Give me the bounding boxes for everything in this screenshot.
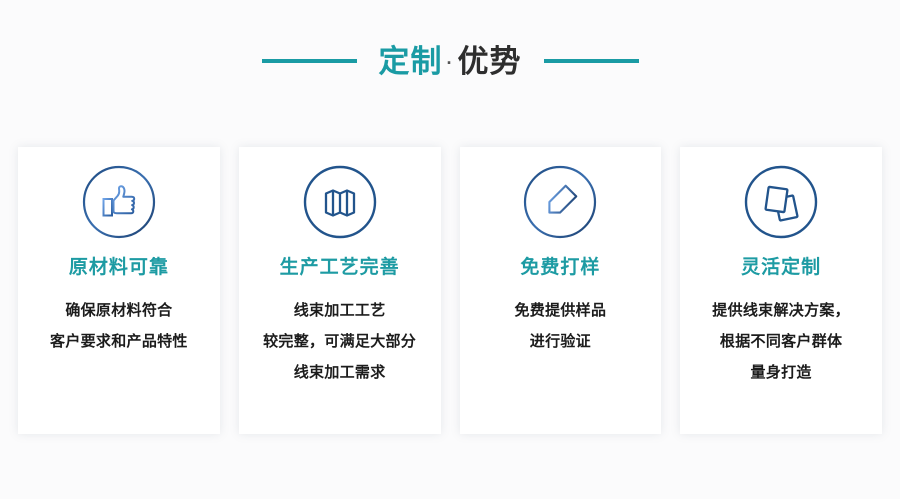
- advantage-card-title: 免费打样: [520, 258, 600, 277]
- folded-map-icon: [302, 164, 378, 240]
- advantage-card: 灵活定制 提供线束解决方案， 根据不同客户群体 量身打造: [680, 147, 882, 434]
- advantage-card-body-line: 确保原材料符合: [24, 295, 214, 326]
- advantage-card: 原材料可靠 确保原材料符合 客户要求和产品特性: [18, 147, 220, 434]
- advantage-card-body-line: 根据不同客户群体: [686, 326, 876, 357]
- page-title: 定制·优势: [379, 46, 522, 77]
- advantage-card-body-line: 客户要求和产品特性: [24, 326, 214, 357]
- page-title-dark: 优势: [458, 44, 522, 79]
- advantage-card-body-line: 免费提供样品: [466, 295, 656, 326]
- advantage-card-body: 线束加工工艺 较完整，可满足大部分 线束加工需求: [239, 295, 441, 388]
- page-title-separator: ·: [443, 53, 458, 73]
- pencil-icon: [522, 164, 598, 240]
- advantage-card-title: 原材料可靠: [69, 258, 169, 277]
- thumbs-up-icon: [81, 164, 157, 240]
- header-rule-left: [262, 59, 357, 63]
- header-rule-right: [544, 59, 639, 63]
- advantage-card-body-line: 量身打造: [686, 357, 876, 388]
- advantage-card-body: 提供线束解决方案， 根据不同客户群体 量身打造: [680, 295, 882, 388]
- page-title-accent: 定制: [379, 44, 443, 79]
- advantage-card-body-line: 较完整，可满足大部分: [245, 326, 435, 357]
- advantage-card: 免费打样 免费提供样品 进行验证: [460, 147, 662, 434]
- advantage-card: 生产工艺完善 线束加工工艺 较完整，可满足大部分 线束加工需求: [239, 147, 441, 434]
- advantage-card-body: 确保原材料符合 客户要求和产品特性: [18, 295, 220, 357]
- header-inner: 定制·优势: [262, 46, 639, 77]
- advantage-card-body: 免费提供样品 进行验证: [460, 295, 662, 357]
- advantage-card-title: 灵活定制: [741, 258, 821, 277]
- advantage-card-body-line: 线束加工需求: [245, 357, 435, 388]
- section-header: 定制·优势: [0, 0, 900, 118]
- stacked-cards-icon: [743, 164, 819, 240]
- advantage-card-title: 生产工艺完善: [280, 258, 400, 277]
- advantage-card-body-line: 进行验证: [466, 326, 656, 357]
- advantage-card-body-line: 提供线束解决方案，: [686, 295, 876, 326]
- advantage-card-body-line: 线束加工工艺: [245, 295, 435, 326]
- advantage-card-list: 原材料可靠 确保原材料符合 客户要求和产品特性 生产工艺完善 线束加工工艺 较完…: [18, 147, 882, 434]
